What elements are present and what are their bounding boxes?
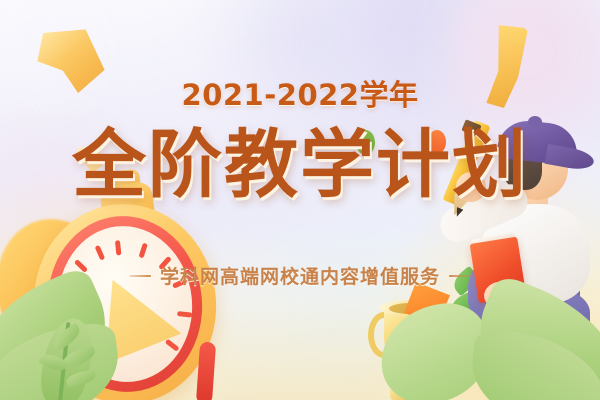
green-dot-accent-icon — [356, 130, 375, 155]
background-blob — [215, 0, 415, 125]
floating-paper-icon — [484, 24, 528, 109]
promo-banner: 2021-2022学年 全阶教学计划 学科网高端网校通内容增值服务 — [0, 0, 600, 400]
floating-paper-icon — [74, 144, 104, 176]
floating-paper-icon — [32, 22, 108, 100]
